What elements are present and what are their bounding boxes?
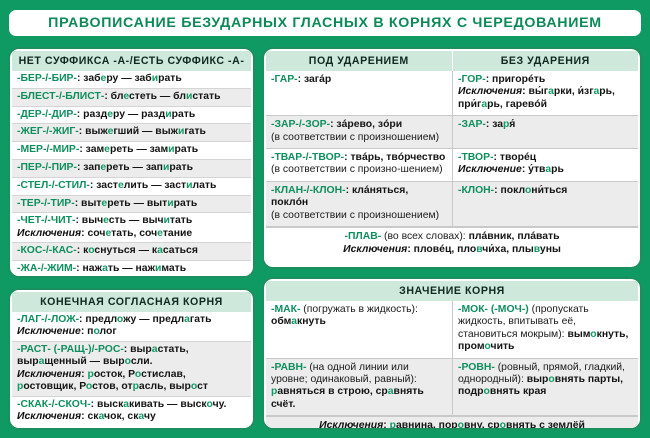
list-item: -ЖЕГ-/-ЖИГ-: выжегший — выжигать — [12, 124, 251, 142]
root-label: -ПЕР-/-ПИР- — [17, 162, 77, 173]
highlighted-vowel: р — [503, 119, 509, 130]
panel-final-consonant: КОНЕЧНАЯ СОГЛАСНАЯ КОРНЯ -ЛАГ-/-ЛОЖ-: пр… — [8, 288, 255, 430]
root-label: -КЛАН-/-КЛОН- — [271, 185, 346, 196]
highlighted-vowel: е — [104, 144, 110, 155]
root-label: -ЖЕГ-/-ЖИГ- — [17, 126, 79, 137]
list-item: -РАСТ- (-РАЩ-)/-РОС-: вырастать, выращен… — [12, 342, 251, 397]
highlighted-vowel: о — [88, 245, 94, 256]
list-item: -СКАК-/-СКОЧ-: выскакивать — выскочу. Ис… — [12, 397, 251, 426]
highlighted-vowel: и — [164, 215, 170, 226]
exception-text: : у́тварь — [522, 164, 564, 175]
plav-note: (во всех словах): — [381, 231, 468, 242]
exception-text: : равнина, поровну, сровнять с землёй — [383, 420, 585, 430]
pronunciation-note: (в соответствии с произно-шением) — [271, 164, 443, 175]
list-item: -ЖА-/-ЖИМ-: нажать — нажимать — [12, 261, 251, 278]
panel-root-meaning-inner: ЗНАЧЕНИЕ КОРНЯ -МАК- (погружать в жидкос… — [264, 279, 640, 428]
highlighted-vowel: о — [483, 386, 489, 397]
highlighted-vowel: е — [101, 198, 107, 209]
unstressed-cell: -ГОР-: пригорéть Исключения: вы́гарки, и… — [452, 71, 638, 115]
highlighted-vowel: е — [107, 109, 113, 120]
root-meaning-exceptions-row: Исключения: равнина, поровну, сровнять с… — [266, 416, 638, 430]
exception-text: : пловéц, пловчи́ха, плывуны — [407, 244, 561, 255]
root-label: -РОВН- — [458, 362, 495, 373]
highlighted-vowel: о — [590, 329, 596, 340]
highlighted-vowel: о — [548, 374, 554, 385]
unstressed-cell: -КЛОН-: поклони́ться — [452, 182, 638, 226]
table-row: -ТВАР-/-ТВОР-: твáрь, твóрчество (в соот… — [266, 149, 638, 182]
highlighted-vowel: о — [117, 314, 123, 325]
highlighted-vowel: о — [458, 420, 464, 430]
section-header-stressed: ПОД УДАРЕНИЕМ — [266, 51, 452, 71]
exception-label: Исключения — [319, 420, 383, 430]
highlighted-vowel: е — [108, 126, 114, 137]
highlighted-vowel: р — [88, 369, 94, 380]
root-example: : поклони́ться — [494, 185, 567, 196]
highlighted-vowel: а — [481, 99, 487, 110]
exception-label: Исключение — [17, 326, 81, 337]
section-header-final-consonant: КОНЕЧНАЯ СОГЛАСНАЯ КОРНЯ — [12, 292, 251, 312]
highlighted-vowel: в — [476, 244, 482, 255]
plav-examples: плáвник, плáвать — [469, 231, 560, 242]
root-example: : пригорéть — [486, 74, 546, 85]
meaning-cell-left: -РАВН- (на одной линии или уровне; одина… — [266, 359, 452, 416]
root-example: : выжегший — выжигать — [79, 126, 206, 137]
exception-text: : скачок, скачу — [81, 411, 156, 422]
exception-label: Исключения — [17, 369, 81, 380]
highlighted-vowel: р — [271, 386, 277, 397]
list-item: -БЛЕСТ-/-БЛИСТ-: блестеть — блистать — [12, 89, 251, 107]
stressed-cell: -ГАР-: загáр — [266, 71, 452, 115]
root-example: : творéц — [494, 152, 537, 163]
exception-label: Исключения — [17, 411, 81, 422]
root-label: -ЛАГ-/-ЛОЖ- — [17, 314, 79, 325]
root-label: -ЧЕТ-/-ЧИТ- — [17, 215, 75, 226]
highlighted-vowel: о — [484, 341, 490, 352]
panel-stress: ПОД УДАРЕНИЕМ БЕЗ УДАРЕНИЯ -ГАР-: загáр … — [262, 47, 642, 269]
highlighted-vowel: о — [525, 185, 531, 196]
root-label: -ПЛАВ- — [344, 231, 381, 242]
list-item: -БЕР-/-БИР-: заберу — забирать — [12, 71, 251, 89]
highlighted-vowel: и — [167, 198, 173, 209]
unstressed-cell: -ЗАР-: заря́ — [452, 116, 638, 148]
highlighted-vowel: а — [184, 314, 190, 325]
stressed-cell: -КЛАН-/-КЛОН-: клáняться, поклóн (в соот… — [266, 182, 452, 226]
highlighted-vowel: а — [388, 386, 394, 397]
root-example: : заря́ — [486, 119, 515, 130]
highlighted-vowel: о — [206, 399, 212, 410]
root-label: -БЕР-/-БИР- — [17, 73, 77, 84]
table-row: -КЛАН-/-КЛОН-: клáняться, поклóн (в соот… — [266, 182, 638, 227]
panel-root-meaning: ЗНАЧЕНИЕ КОРНЯ -МАК- (погружать в жидкос… — [262, 277, 642, 430]
exception-text: : полог — [81, 326, 117, 337]
root-example: : раздеру — раздирать — [77, 109, 195, 120]
root-example: : нажать — нажимать — [76, 263, 186, 274]
root-label: -РАСТ- (-РАЩ-)/-РОС- — [17, 344, 124, 355]
highlighted-vowel: и — [186, 91, 192, 102]
root-example: : замереть — замирать — [79, 144, 198, 155]
root-example: : блестеть — блистать — [104, 91, 220, 102]
section-header-root-meaning: ЗНАЧЕНИЕ КОРНЯ — [266, 281, 638, 301]
highlighted-vowel: р — [17, 381, 23, 392]
highlighted-vowel: е — [103, 215, 109, 226]
meaning-note: (погружать в жидкость): — [300, 304, 417, 315]
highlighted-vowel: р — [390, 420, 396, 430]
exception-label: Исключения — [458, 86, 522, 97]
list-item: -КОС-/-КАС-: коснуться — касаться — [12, 243, 251, 261]
root-label: -МОК- (-МОЧ-) — [458, 304, 529, 315]
highlighted-vowel: а — [138, 411, 144, 422]
highlighted-vowel: а — [152, 344, 158, 355]
highlighted-vowel: о — [135, 369, 141, 380]
section-header-unstressed: БЕЗ УДАРЕНИЯ — [452, 51, 639, 71]
highlighted-vowel: и — [178, 126, 184, 137]
exception-label: Исключение — [458, 164, 522, 175]
highlighted-vowel: и — [163, 162, 169, 173]
highlighted-vowel: р — [133, 381, 139, 392]
root-example: : твáрь, твóрчество — [344, 152, 445, 163]
highlighted-vowel: и — [155, 263, 161, 274]
root-label: -БЛЕСТ-/-БЛИСТ- — [17, 91, 104, 102]
root-label: -СКАК-/-СКОЧ- — [17, 399, 91, 410]
list-item: -ПЕР-/-ПИР-: запереть — запирать — [12, 160, 251, 178]
highlighted-vowel: е — [105, 228, 111, 239]
root-label: -МАК- — [271, 304, 300, 315]
root-example: : заберу — забирать — [77, 73, 182, 84]
meaning-cell-right: -РОВН- (ровный, прямой, гладкий, однород… — [452, 359, 638, 416]
highlighted-vowel: е — [101, 73, 107, 84]
root-example: : вычесть — вычитать — [75, 215, 192, 226]
exception-text: : сочетать, сочетание — [81, 228, 192, 239]
root-example: обмакнуть — [271, 316, 326, 327]
highlighted-vowel: а — [39, 356, 45, 367]
highlighted-vowel: е — [123, 91, 129, 102]
plav-row: -ПЛАВ- (во всех словах): плáвник, плáват… — [266, 227, 638, 260]
highlighted-vowel: а — [291, 316, 297, 327]
panel-final-consonant-inner: КОНЕЧНАЯ СОГЛАСНАЯ КОРНЯ -ЛАГ-/-ЛОЖ-: пр… — [10, 290, 253, 428]
pronunciation-note: (в соответствии с произношением) — [271, 132, 439, 143]
pronunciation-note: (в соответствии с произношением) — [271, 210, 439, 221]
highlighted-vowel: и — [165, 109, 171, 120]
highlighted-vowel: а — [102, 263, 108, 274]
unstressed-cell: -ТВОР-: творéц Исключение: у́тварь — [452, 149, 638, 181]
highlighted-vowel: а — [545, 164, 551, 175]
root-label: -ТВАР-/-ТВОР- — [271, 152, 344, 163]
root-example: : предложу — предлагать — [79, 314, 211, 325]
highlighted-vowel: о — [500, 420, 506, 430]
highlighted-vowel: и — [168, 144, 174, 155]
root-example: : коснуться — касаться — [77, 245, 198, 256]
root-example: равняться в строю, сравнять счёт. — [271, 386, 424, 409]
root-label: -ЗАР- — [458, 119, 486, 130]
root-label: -КОС-/-КАС- — [17, 245, 77, 256]
highlighted-vowel: а — [157, 245, 163, 256]
highlighted-vowel: о — [125, 356, 131, 367]
root-label: -ГОР- — [458, 74, 486, 85]
list-item: -ДЕР-/-ДИР-: раздеру — раздирать — [12, 107, 251, 125]
root-example: : загáр — [298, 74, 332, 85]
root-label: -ГАР- — [271, 74, 298, 85]
highlighted-vowel: о — [191, 381, 197, 392]
root-label: -ТВОР- — [458, 152, 494, 163]
highlighted-vowel: о — [93, 326, 99, 337]
root-label: -ЖА-/-ЖИМ- — [17, 263, 76, 274]
section-header-suffix-a: НЕТ СУФФИКСА -А-/ЕСТЬ СУФФИКС -А- — [12, 51, 251, 71]
list-item: -МЕР-/-МИР-: замереть — замирать — [12, 142, 251, 160]
root-example: : запереть — запирать — [77, 162, 193, 173]
stressed-cell: -ТВАР-/-ТВОР-: твáрь, твóрчество (в соот… — [266, 149, 452, 181]
root-example: : застелить — застилать — [90, 180, 216, 191]
table-row: -ГАР-: загáр -ГОР-: пригорéть Исключения… — [266, 71, 638, 116]
highlighted-vowel: а — [548, 86, 554, 97]
exception-label: Исключения — [343, 244, 407, 255]
list-item: -ТЕР-/-ТИР-: вытереть — вытирать — [12, 196, 251, 214]
root-label: -РАВН- — [271, 362, 306, 373]
poster-root: ПРАВОПИСАНИЕ БЕЗУДАРНЫХ ГЛАСНЫХ В КОРНЯХ… — [0, 0, 650, 438]
table-row: -ЗАР-/-ЗОР-: зáрево, зóри (в соответстви… — [266, 116, 638, 149]
highlighted-vowel: е — [100, 162, 106, 173]
root-label: -ДЕР-/-ДИР- — [17, 109, 77, 120]
panel-suffix-a-inner: НЕТ СУФФИКСА -А-/ЕСТЬ СУФФИКС -А- -БЕР-/… — [10, 49, 253, 276]
panel-stress-inner: ПОД УДАРЕНИЕМ БЕЗ УДАРЕНИЯ -ГАР-: загáр … — [264, 49, 640, 267]
highlighted-vowel: и — [186, 180, 192, 191]
page-title: ПРАВОПИСАНИЕ БЕЗУДАРНЫХ ГЛАСНЫХ В КОРНЯХ… — [9, 10, 641, 36]
stress-header-row: ПОД УДАРЕНИЕМ БЕЗ УДАРЕНИЯ — [266, 51, 638, 71]
root-label: -СТЕЛ-/-СТИЛ- — [17, 180, 90, 191]
highlighted-vowel: а — [594, 86, 600, 97]
list-item: -ЛАГ-/-ЛОЖ-: предложу — предлагать Исклю… — [12, 312, 251, 342]
page-title-text: ПРАВОПИСАНИЕ БЕЗУДАРНЫХ ГЛАСНЫХ В КОРНЯХ… — [48, 15, 602, 31]
root-example: : зáрево, зóри — [330, 119, 402, 130]
highlighted-vowel: о — [86, 381, 92, 392]
table-row: -МАК- (погружать в жидкость): обмакнуть … — [266, 301, 638, 359]
table-row: -РАВН- (на одной линии или уровне; одина… — [266, 359, 638, 417]
root-label: -ЗАР-/-ЗОР- — [271, 119, 330, 130]
root-example: : выскакивать — выскочу. — [91, 399, 227, 410]
highlighted-vowel: а — [123, 399, 129, 410]
root-label: -КЛОН- — [458, 185, 494, 196]
highlighted-vowel: е — [157, 228, 163, 239]
meaning-cell-left: -МАК- (погружать в жидкость): обмакнуть — [266, 301, 452, 358]
highlighted-vowel: е — [118, 180, 124, 191]
exception-label: Исключения — [17, 228, 81, 239]
highlighted-vowel: а — [99, 411, 105, 422]
meaning-cell-right: -МОК- (-МОЧ-) (пропускать жидкость, впит… — [452, 301, 638, 358]
highlighted-vowel: в — [534, 244, 540, 255]
root-label: -ТЕР-/-ТИР- — [17, 198, 75, 209]
root-label: -МЕР-/-МИР- — [17, 144, 79, 155]
list-item: -ЧЕТ-/-ЧИТ-: вычесть — вычитать Исключен… — [12, 213, 251, 243]
root-example: : вытереть — вытирать — [75, 198, 198, 209]
highlighted-vowel: и — [152, 73, 158, 84]
panel-suffix-a: НЕТ СУФФИКСА -А-/ЕСТЬ СУФФИКС -А- -БЕР-/… — [8, 47, 255, 278]
list-item: -СТЕЛ-/-СТИЛ-: застелить — застилать — [12, 178, 251, 196]
stressed-cell: -ЗАР-/-ЗОР-: зáрево, зóри (в соответстви… — [266, 116, 452, 148]
